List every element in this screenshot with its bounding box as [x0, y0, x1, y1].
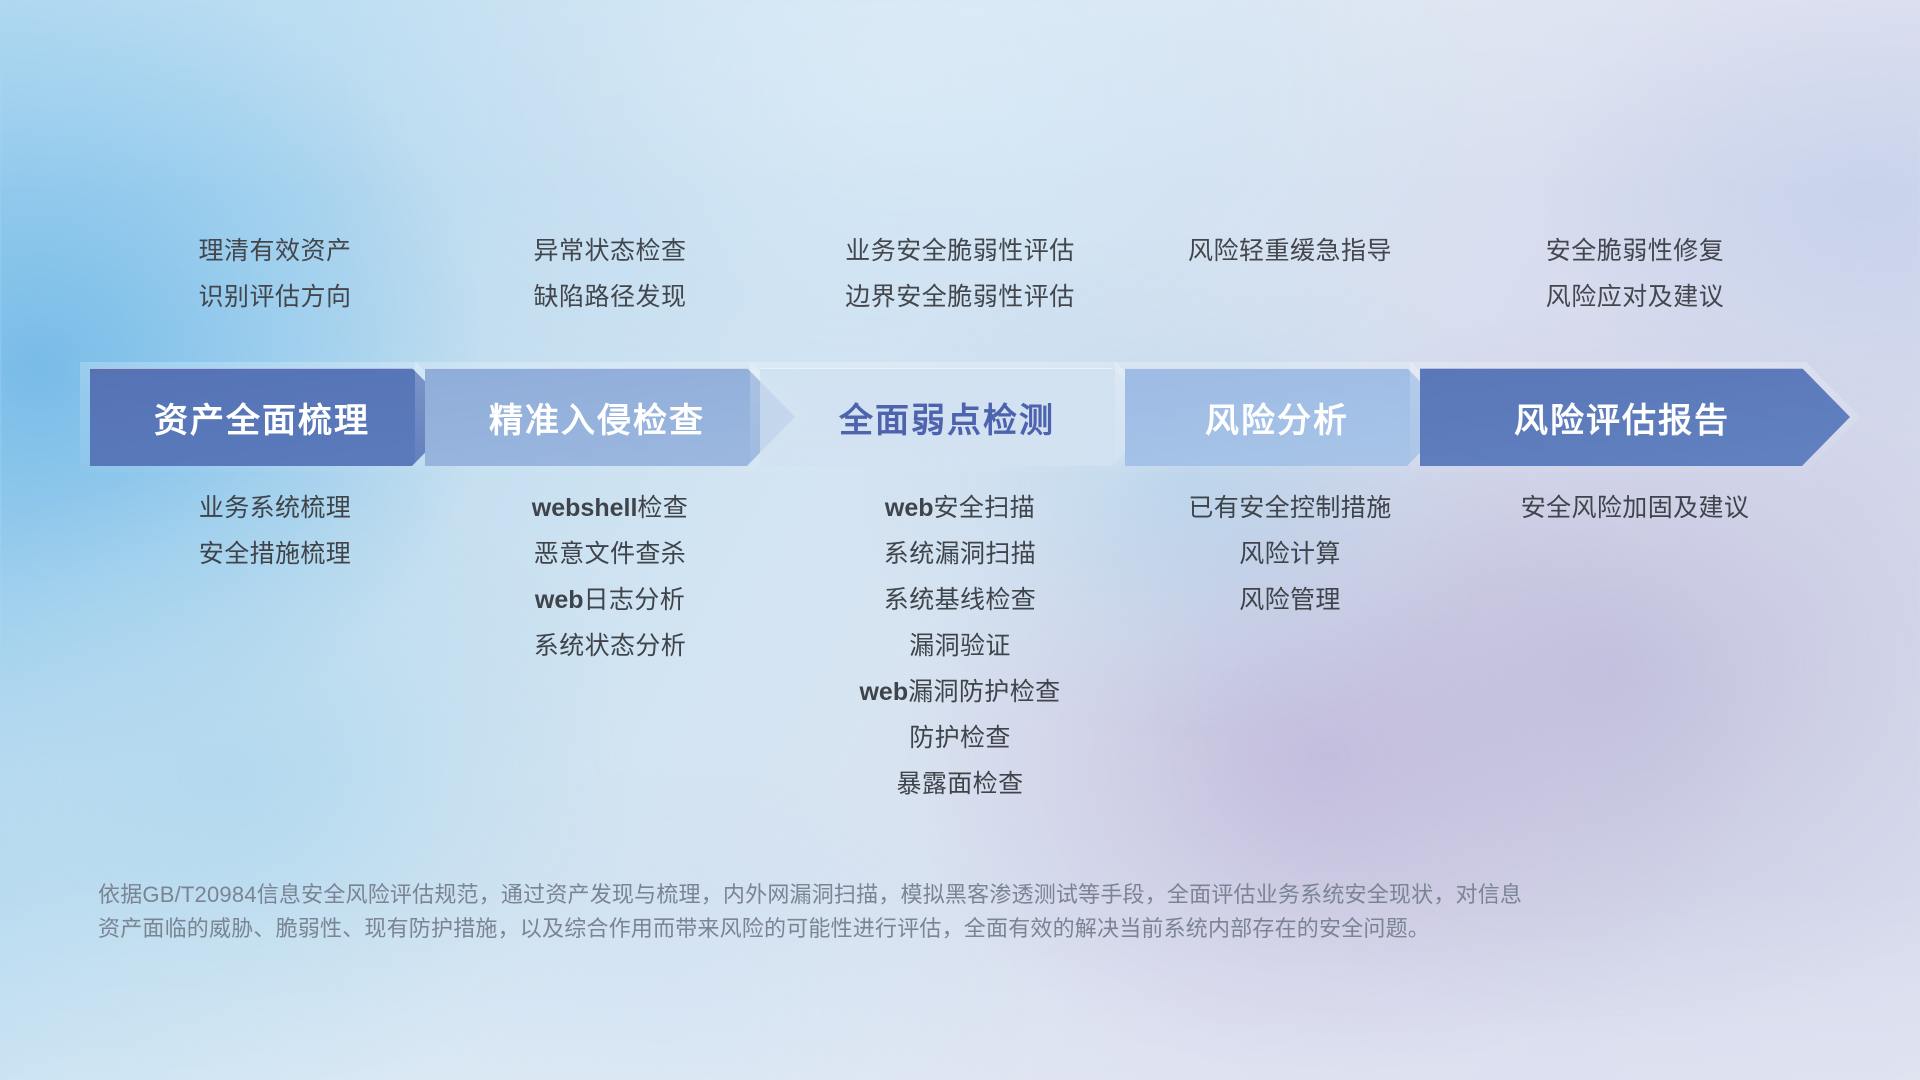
latin-token: webshell	[532, 494, 638, 522]
top-notes-intrusion-check: 异常状态检查缺陷路径发现	[425, 236, 795, 312]
chevron-stage-risk-analysis[interactable]: 风险分析	[1125, 368, 1455, 466]
detail-item: 业务系统梳理	[199, 492, 351, 524]
detail-item: web日志分析	[535, 584, 685, 616]
top-note-item: 边界安全脆弱性评估	[845, 282, 1075, 312]
detail-item: webshell检查	[532, 492, 688, 524]
top-note-item: 异常状态检查	[533, 236, 686, 266]
latin-token: web	[859, 678, 908, 706]
footer-line-1: 依据GB/T20984信息安全风险评估规范，通过资产发现与梳理，内外网漏洞扫描，…	[98, 878, 1658, 912]
top-note-item: 风险应对及建议	[1546, 282, 1725, 312]
chevron-stage-asset-inventory[interactable]: 资产全面梳理	[90, 368, 460, 466]
detail-list-risk-analysis: 已有安全控制措施风险计算风险管理	[1125, 492, 1455, 616]
detail-item: 防护检查	[909, 722, 1011, 754]
chevron-label-weakness-detection: 全面弱点检测	[760, 393, 1160, 442]
chevron-label-intrusion-check: 精准入侵检查	[425, 393, 795, 442]
detail-item: 安全风险加固及建议	[1521, 492, 1750, 524]
detail-item: web安全扫描	[885, 492, 1035, 524]
chevron-stage-intrusion-check[interactable]: 精准入侵检查	[425, 368, 795, 466]
detail-item: 已有安全控制措施	[1188, 492, 1391, 524]
chevron-label-risk-analysis: 风险分析	[1125, 393, 1455, 442]
stage-top-notes-row: 理清有效资产识别评估方向异常状态检查缺陷路径发现业务安全脆弱性评估边界安全脆弱性…	[95, 236, 1835, 341]
top-notes-risk-analysis: 风险轻重缓急指导	[1125, 236, 1455, 266]
detail-item: 系统状态分析	[534, 630, 686, 662]
detail-item: 系统基线检查	[884, 584, 1036, 616]
top-note-item: 识别评估方向	[198, 282, 351, 312]
top-note-item: 业务安全脆弱性评估	[845, 236, 1075, 266]
detail-item: 安全措施梳理	[199, 538, 351, 570]
detail-item: 暴露面检查	[896, 768, 1023, 800]
detail-item: 风险计算	[1239, 538, 1341, 570]
chevron-stage-weakness-detection[interactable]: 全面弱点检测	[760, 368, 1160, 466]
chevron-stage-risk-report[interactable]: 风险评估报告	[1420, 368, 1850, 466]
detail-item: web漏洞防护检查	[859, 676, 1060, 708]
top-notes-asset-inventory: 理清有效资产识别评估方向	[90, 236, 460, 312]
latin-token: web	[535, 586, 584, 614]
detail-list-intrusion-check: webshell检查恶意文件查杀web日志分析系统状态分析	[425, 492, 795, 662]
detail-item: 漏洞验证	[909, 630, 1011, 662]
footer-line-2: 资产面临的威胁、脆弱性、现有防护措施，以及综合作用而带来风险的可能性进行评估，全…	[98, 912, 1658, 946]
top-note-item: 安全脆弱性修复	[1546, 236, 1725, 266]
top-note-item: 缺陷路径发现	[533, 282, 686, 312]
detail-list-asset-inventory: 业务系统梳理安全措施梳理	[90, 492, 460, 570]
process-chevron-band: 资产全面梳理精准入侵检查全面弱点检测风险分析风险评估报告	[0, 368, 1920, 466]
detail-list-risk-report: 安全风险加固及建议	[1420, 492, 1850, 524]
footer-description: 依据GB/T20984信息安全风险评估规范，通过资产发现与梳理，内外网漏洞扫描，…	[98, 878, 1658, 946]
chevron-label-asset-inventory: 资产全面梳理	[90, 393, 460, 442]
top-note-item: 风险轻重缓急指导	[1188, 236, 1392, 266]
detail-item: 系统漏洞扫描	[884, 538, 1036, 570]
chevron-label-risk-report: 风险评估报告	[1420, 393, 1850, 442]
top-notes-weakness-detection: 业务安全脆弱性评估边界安全脆弱性评估	[760, 236, 1160, 312]
top-notes-risk-report: 安全脆弱性修复风险应对及建议	[1420, 236, 1850, 312]
top-note-item: 理清有效资产	[198, 236, 351, 266]
detail-item: 风险管理	[1239, 584, 1341, 616]
detail-item: 恶意文件查杀	[534, 538, 686, 570]
latin-token: web	[885, 494, 934, 522]
detail-list-weakness-detection: web安全扫描系统漏洞扫描系统基线检查漏洞验证web漏洞防护检查防护检查暴露面检…	[760, 492, 1160, 800]
slide-canvas: 理清有效资产识别评估方向异常状态检查缺陷路径发现业务安全脆弱性评估边界安全脆弱性…	[0, 0, 1920, 1080]
